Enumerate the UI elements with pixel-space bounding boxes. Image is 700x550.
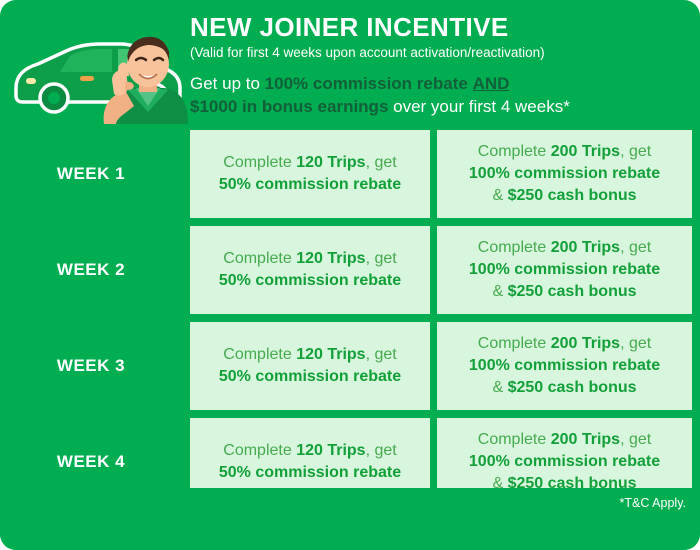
offer-reward: 100% commission rebate [469, 165, 660, 182]
offer-reward: 50% commission rebate [219, 368, 401, 385]
offer-tier-1-cell: Complete 120 Trips, get50% commission re… [190, 322, 430, 410]
promo-rebate-highlight: 100% commission rebate [265, 74, 468, 93]
offer-reward: 100% commission rebate [469, 453, 660, 470]
promo-and-highlight: AND [473, 74, 510, 93]
offer-trips-target: 200 Trips [551, 143, 620, 160]
table-row: WEEK 3 Complete 120 Trips, get50% commis… [0, 322, 700, 410]
offer-reward: 50% commission rebate [219, 176, 401, 193]
offer-trips-target: 120 Trips [296, 250, 365, 267]
promo-line1-prefix: Get up to [190, 74, 265, 93]
driver-thumbs-up-with-car-illustration [8, 2, 188, 124]
incentive-table: WEEK 1 Complete 120 Trips, get50% commis… [0, 130, 700, 514]
offer-tier-2-cell: Complete 200 Trips, get100% commission r… [437, 322, 692, 410]
week-label-cell: WEEK 1 [0, 130, 182, 218]
offer-prefix: Complete [478, 239, 551, 256]
promo-bonus-highlight: $1000 in bonus earnings [190, 97, 388, 116]
promo-line-2: $1000 in bonus earnings over your first … [190, 95, 690, 118]
offer-trips-target: 120 Trips [296, 442, 365, 459]
offer-prefix: Complete [223, 250, 296, 267]
offer-trips-target: 120 Trips [296, 154, 365, 171]
offer-reward: 50% commission rebate [219, 464, 401, 481]
offer-reward: 100% commission rebate [469, 357, 660, 374]
offer-tier-1-cell: Complete 120 Trips, get50% commission re… [190, 130, 430, 218]
offer-cash-bonus: $250 cash bonus [508, 283, 637, 300]
promo-poster: NEW JOINER INCENTIVE (Valid for first 4 … [0, 0, 700, 550]
offer-mid: , get [620, 239, 651, 256]
offer-cash-bonus: $250 cash bonus [508, 187, 637, 204]
offer-mid: , get [366, 154, 397, 171]
week-label-cell: WEEK 2 [0, 226, 182, 314]
table-row: WEEK 2 Complete 120 Trips, get50% commis… [0, 226, 700, 314]
offer-tier-1-cell: Complete 120 Trips, get50% commission re… [190, 226, 430, 314]
offer-mid: , get [620, 143, 651, 160]
offer-trips-target: 200 Trips [551, 239, 620, 256]
page-title: NEW JOINER INCENTIVE [190, 12, 690, 42]
promo-line-1: Get up to 100% commission rebate AND [190, 72, 690, 95]
validity-note: (Valid for first 4 weeks upon account ac… [190, 44, 690, 62]
offer-prefix: Complete [478, 143, 551, 160]
promo-line2-suffix: over your first 4 weeks* [388, 97, 569, 116]
offer-mid: , get [620, 335, 651, 352]
offer-mid: , get [366, 346, 397, 363]
offer-reward: 50% commission rebate [219, 272, 401, 289]
offer-amp: & [492, 187, 507, 204]
table-row: WEEK 1 Complete 120 Trips, get50% commis… [0, 130, 700, 218]
offer-prefix: Complete [478, 431, 551, 448]
week-label-cell: WEEK 3 [0, 322, 182, 410]
offer-prefix: Complete [223, 154, 296, 171]
offer-tier-2-cell: Complete 200 Trips, get100% commission r… [437, 130, 692, 218]
offer-amp: & [492, 283, 507, 300]
header-text-block: NEW JOINER INCENTIVE (Valid for first 4 … [190, 12, 690, 118]
offer-reward: 100% commission rebate [469, 261, 660, 278]
offer-tier-2-cell: Complete 200 Trips, get100% commission r… [437, 226, 692, 314]
offer-prefix: Complete [478, 335, 551, 352]
offer-mid: , get [620, 431, 651, 448]
offer-trips-target: 120 Trips [296, 346, 365, 363]
poster-footer: *T&C Apply. [0, 488, 700, 550]
offer-prefix: Complete [223, 346, 296, 363]
offer-cash-bonus: $250 cash bonus [508, 379, 637, 396]
promo-summary: Get up to 100% commission rebate AND $10… [190, 72, 690, 118]
offer-trips-target: 200 Trips [551, 335, 620, 352]
poster-header: NEW JOINER INCENTIVE (Valid for first 4 … [0, 0, 700, 124]
terms-and-conditions-note: *T&C Apply. [620, 496, 686, 510]
offer-mid: , get [366, 442, 397, 459]
offer-trips-target: 200 Trips [551, 431, 620, 448]
offer-mid: , get [366, 250, 397, 267]
offer-prefix: Complete [223, 442, 296, 459]
offer-amp: & [492, 379, 507, 396]
